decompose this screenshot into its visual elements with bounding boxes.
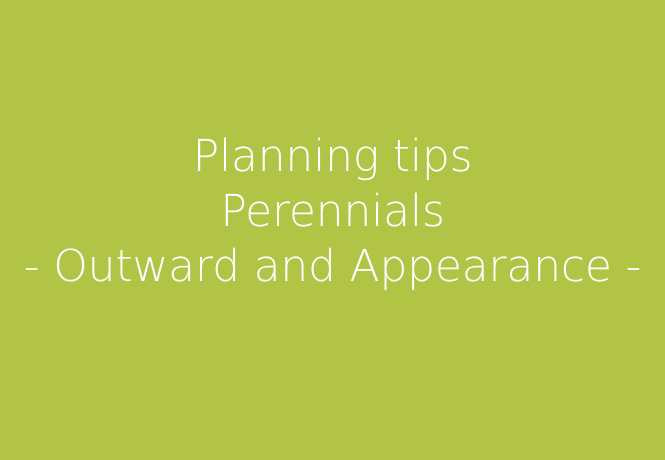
title-line-subtitle: - Outward and Appearance -: [24, 239, 641, 294]
title-line-subject: Perennials: [220, 184, 444, 239]
title-line-primary: Planning tips: [193, 129, 473, 184]
banner-card: Planning tips Perennials - Outward and A…: [0, 0, 665, 460]
page-title: Planning tips Perennials - Outward and A…: [0, 129, 665, 294]
